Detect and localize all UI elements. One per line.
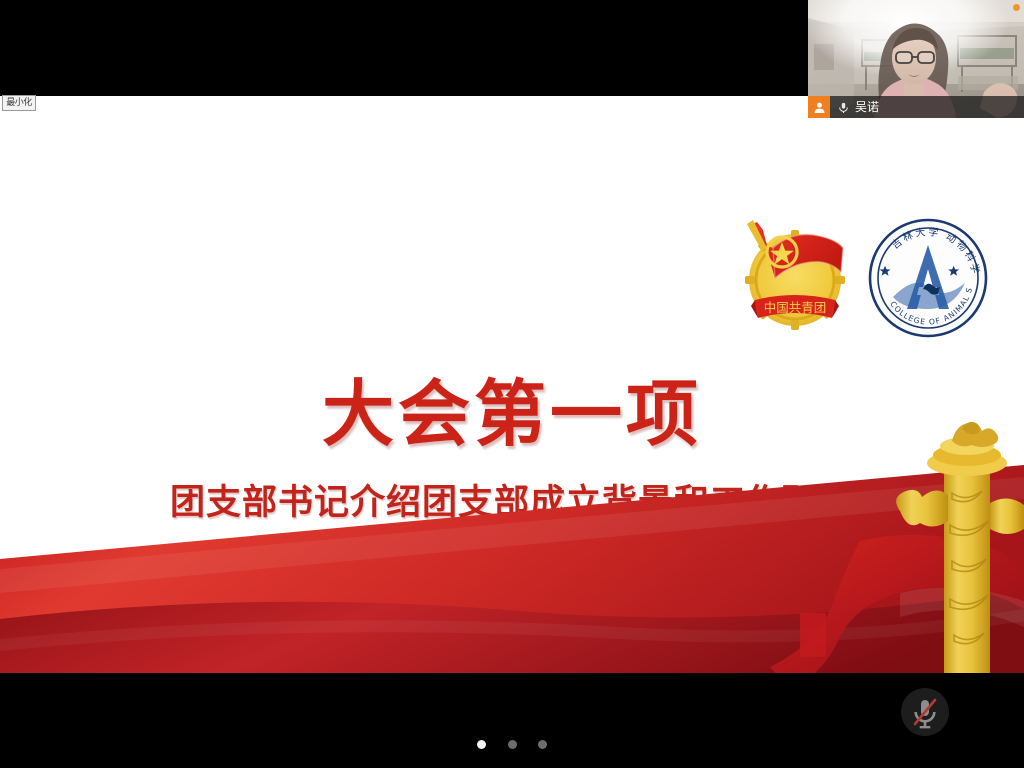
emblem-banner-text: 中国共青团	[764, 300, 827, 315]
recording-status-dot	[1013, 4, 1020, 11]
page-dot-1[interactable]	[477, 740, 486, 749]
page-dot-2[interactable]	[508, 740, 517, 749]
microphone-muted-icon	[901, 688, 949, 736]
participant-name-bar: 吴诺	[808, 96, 1024, 118]
microphone-icon	[834, 101, 852, 114]
minimize-button[interactable]: 最小化	[2, 95, 36, 111]
slide-bottom-decoration	[0, 413, 1024, 673]
microphone-muted-button[interactable]: 静音	[901, 688, 949, 736]
person-icon	[808, 96, 830, 118]
participant-name: 吴诺	[855, 96, 879, 118]
page-dot-3[interactable]	[538, 740, 547, 749]
bottom-control-bar	[0, 673, 1024, 768]
page-indicator-dots[interactable]	[0, 734, 1024, 753]
communist-youth-league-emblem-icon: 中国共青团	[733, 208, 857, 334]
presentation-slide[interactable]: 中国共青团	[0, 96, 1024, 673]
participant-video-tile[interactable]: 吴诺	[808, 0, 1024, 118]
meeting-screen-share-view: 中国共青团	[0, 0, 1024, 768]
college-of-animal-sciences-emblem-icon: 吉林大学 动物科学学院 COLLEGE OF ANIMAL SCIENCES	[867, 217, 989, 339]
